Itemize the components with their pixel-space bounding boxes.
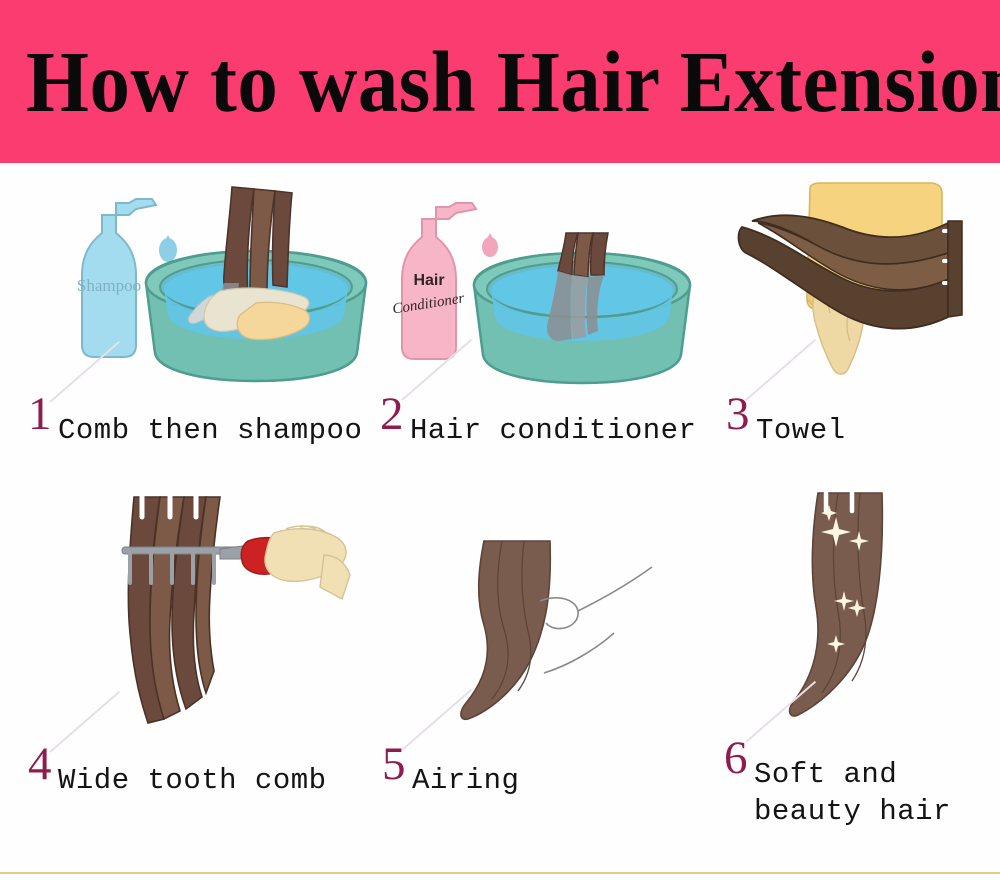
- step-4-wide-tooth-comb: 4 Wide tooth comb: [24, 483, 374, 843]
- conditioner-bottle-icon: Hair Conditioner: [391, 203, 476, 359]
- page-title: How to wash Hair Extension: [0, 38, 1000, 125]
- step-6-caption: 6 Soft and beauty hair: [724, 739, 951, 830]
- step-3-label: Towel: [756, 395, 846, 449]
- step-5-label: Airing: [412, 745, 519, 799]
- hand-icon: [265, 526, 350, 599]
- step-5-number: 5: [382, 745, 416, 785]
- airing-hair-illustration: [374, 483, 704, 753]
- step-4-label: Wide tooth comb: [58, 745, 327, 799]
- step-4-caption: 4 Wide tooth comb: [28, 745, 327, 799]
- shiny-hair-illustration: [712, 483, 992, 743]
- step-2-number: 2: [380, 395, 414, 435]
- step-2-caption: 2 Hair conditioner: [380, 395, 696, 449]
- step-4-number: 4: [28, 745, 62, 785]
- step-6-number: 6: [724, 739, 758, 779]
- step-5-caption: 5 Airing: [382, 745, 519, 799]
- step-2-hair-conditioner: Hair Conditioner: [380, 175, 700, 475]
- steps-grid: Shampoo: [0, 163, 1000, 873]
- step-6-soft-and-beauty-hair: 6 Soft and beauty hair: [712, 483, 992, 881]
- step-2-label: Hair conditioner: [410, 395, 696, 449]
- step-5-airing: 5 Airing: [374, 483, 704, 843]
- hair-extension-icon: [128, 495, 220, 723]
- conditioner-basin-illustration: Hair Conditioner: [380, 175, 700, 405]
- step-1-comb-then-shampoo: Shampoo: [24, 175, 374, 475]
- step-6-label: Soft and beauty hair: [754, 739, 951, 830]
- wide-tooth-comb-illustration: [24, 483, 374, 753]
- step-3-towel: 3 Towel: [712, 175, 992, 475]
- step-1-caption: 1 Comb then shampoo: [28, 395, 362, 449]
- shampoo-bottle-icon: Shampoo: [77, 199, 156, 357]
- step-1-number: 1: [28, 395, 62, 435]
- step-3-number: 3: [726, 395, 760, 435]
- hair-wave-icon: [739, 215, 962, 328]
- airflow-icon: [540, 567, 652, 673]
- conditioner-label-line1: Hair: [413, 272, 444, 289]
- shampoo-basin-illustration: Shampoo: [24, 175, 374, 405]
- step-3-caption: 3 Towel: [726, 395, 846, 449]
- towel-hair-illustration: [712, 175, 992, 405]
- bottom-rule-divider: [0, 872, 1000, 874]
- svg-text:Shampoo: Shampoo: [77, 276, 141, 295]
- hair-icon: [461, 541, 550, 719]
- step-1-label: Comb then shampoo: [58, 395, 362, 449]
- header-banner: How to wash Hair Extension: [0, 0, 1000, 163]
- infographic-page: How to wash Hair Extension Shampoo: [0, 0, 1000, 881]
